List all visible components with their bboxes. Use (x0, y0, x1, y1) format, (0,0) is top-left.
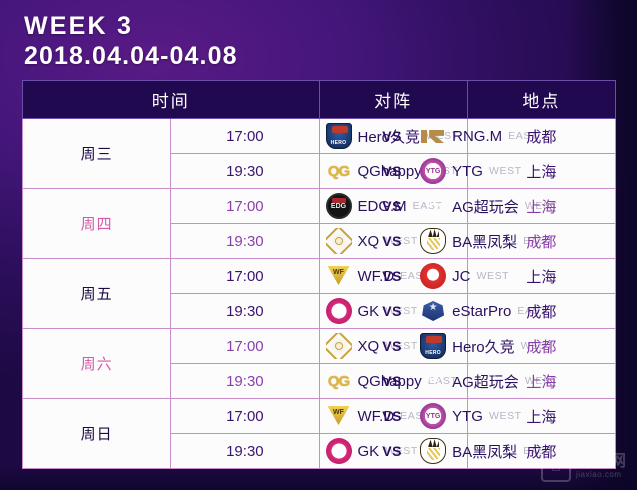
away-team[interactable]: YTGYTGWEST (412, 158, 467, 184)
column-header-venue: 地点 (467, 81, 615, 119)
home-team[interactable]: XQWEST (320, 333, 373, 359)
table-row: 周四17:00EDGEDG.MEASTVSAG超玩会WEST上海 (23, 189, 616, 224)
column-header-matchup: 对阵 (319, 81, 467, 119)
qghappy-logo: QG (326, 158, 352, 184)
ba-logo (420, 438, 446, 464)
week-title: WEEK 3 (24, 12, 238, 42)
away-team[interactable]: Hero久竞WEST (412, 333, 467, 359)
matchup: WF.DEASTVSJCWEST (320, 260, 467, 293)
home-team[interactable]: Hero久竞WEST (320, 123, 373, 149)
rng-logo (420, 123, 446, 149)
matchup: GKWESTVSeStarProEAST (320, 295, 467, 328)
match-cell: Hero久竞WESTVSRNG.MEAST (319, 119, 467, 154)
vs-label: VS (372, 338, 412, 354)
conference-label: WEST (476, 270, 514, 282)
schedule-table-wrapper: 时间 对阵 地点 周三17:00Hero久竞WESTVSRNG.MEAST成都1… (22, 80, 616, 469)
away-team[interactable]: BA黑凤梨EAST (412, 228, 467, 254)
ytg-logo: YTG (420, 403, 446, 429)
table-row: 周五17:00WF.DEASTVSJCWEST上海 (23, 259, 616, 294)
away-team[interactable]: AG超玩会WEST (412, 193, 467, 219)
team-name: RNG.M (446, 128, 508, 145)
vs-label: VS (372, 128, 412, 144)
match-cell: XQWESTVSBA黑凤梨EAST (319, 224, 467, 259)
ag-logo (420, 193, 446, 219)
match-time: 19:30 (171, 364, 319, 399)
team-name: AG超玩会 (446, 371, 525, 392)
match-time: 19:30 (171, 154, 319, 189)
poster-title-block: WEEK 3 2018.04.04-04.08 (24, 12, 238, 71)
conference-label: WEST (489, 410, 527, 422)
vs-label: VS (372, 408, 412, 424)
away-team[interactable]: RNG.MEAST (412, 123, 467, 149)
day-label-0: 周三 (23, 119, 171, 189)
match-cell: QGQGhappyEASTVSYTGYTGWEST (319, 154, 467, 189)
vs-label: VS (372, 268, 412, 284)
matchup: WF.DEASTVSYTGYTGWEST (320, 400, 467, 433)
watermark-subtitle: jiaxiao.com (576, 471, 627, 479)
team-name: JC (446, 268, 476, 285)
match-cell: WF.DEASTVSJCWEST (319, 259, 467, 294)
matchup: XQWESTVSBA黑凤梨EAST (320, 225, 467, 258)
table-header-row: 时间 对阵 地点 (23, 81, 616, 119)
schedule-table: 时间 对阵 地点 周三17:00Hero久竞WESTVSRNG.MEAST成都1… (22, 80, 616, 469)
team-name: YTG (446, 163, 489, 180)
column-header-time: 时间 (23, 81, 320, 119)
matchup: Hero久竞WESTVSRNG.MEAST (320, 120, 467, 153)
home-team[interactable]: WF.DEAST (320, 263, 373, 289)
table-header: 时间 对阵 地点 (23, 81, 616, 119)
xq-logo (326, 333, 352, 359)
away-team[interactable]: BA黑凤梨EAST (412, 438, 467, 464)
wfd-logo (326, 263, 352, 289)
home-team[interactable]: EDGEDG.MEAST (320, 193, 373, 219)
away-team[interactable]: eStarProEAST (412, 298, 467, 324)
estar-logo (420, 298, 446, 324)
matchup: EDGEDG.MEASTVSAG超玩会WEST (320, 190, 467, 223)
edg-logo: EDG (326, 193, 352, 219)
match-time: 17:00 (171, 259, 319, 294)
vs-label: VS (372, 303, 412, 319)
xq-logo (326, 228, 352, 254)
day-label-1: 周四 (23, 189, 171, 259)
table-row: 周日17:00WF.DEASTVSYTGYTGWEST上海 (23, 399, 616, 434)
home-team[interactable]: GKWEST (320, 438, 373, 464)
table-row: 周三17:00Hero久竞WESTVSRNG.MEAST成都 (23, 119, 616, 154)
wfd-logo (326, 403, 352, 429)
away-team[interactable]: YTGYTGWEST (412, 403, 467, 429)
ba-logo (420, 228, 446, 254)
matchup: XQWESTVSHero久竞WEST (320, 330, 467, 363)
away-team[interactable]: AG超玩会WEST (412, 368, 467, 394)
home-team[interactable]: QGQGhappyEAST (320, 158, 373, 184)
away-team[interactable]: JCWEST (412, 263, 467, 289)
team-name: BA黑凤梨 (446, 441, 523, 462)
match-cell: EDGEDG.MEASTVSAG超玩会WEST (319, 189, 467, 224)
matchup: GKWESTVSBA黑凤梨EAST (320, 435, 467, 468)
home-team[interactable]: WF.DEAST (320, 403, 373, 429)
match-cell: XQWESTVSHero久竞WEST (319, 329, 467, 364)
team-name: eStarPro (446, 303, 517, 320)
table-row: 周六17:00XQWESTVSHero久竞WEST成都 (23, 329, 616, 364)
home-team[interactable]: GKWEST (320, 298, 373, 324)
home-team[interactable]: XQWEST (320, 228, 373, 254)
conference-label: WEST (489, 165, 527, 177)
team-name: YTG (446, 408, 489, 425)
vs-label: VS (372, 163, 412, 179)
match-time: 19:30 (171, 294, 319, 329)
ytg-logo: YTG (420, 158, 446, 184)
day-label-3: 周六 (23, 329, 171, 399)
team-name: BA黑凤梨 (446, 231, 523, 252)
vs-label: VS (372, 198, 412, 214)
match-time: 17:00 (171, 329, 319, 364)
day-label-2: 周五 (23, 259, 171, 329)
hero-logo (326, 123, 352, 149)
date-range-title: 2018.04.04-04.08 (24, 42, 238, 72)
match-cell: GKWESTVSeStarProEAST (319, 294, 467, 329)
team-name: AG超玩会 (446, 196, 525, 217)
qghappy-logo: QG (326, 368, 352, 394)
match-time: 17:00 (171, 189, 319, 224)
home-team[interactable]: QGQGhappyEAST (320, 368, 373, 394)
matchup: QGQGhappyEASTVSAG超玩会WEST (320, 365, 467, 398)
matchup: QGQGhappyEASTVSYTGYTGWEST (320, 155, 467, 188)
gk-logo (326, 438, 352, 464)
table-body: 周三17:00Hero久竞WESTVSRNG.MEAST成都19:30QGQGh… (23, 119, 616, 469)
match-time: 17:00 (171, 119, 319, 154)
match-time: 17:00 (171, 399, 319, 434)
match-cell: QGQGhappyEASTVSAG超玩会WEST (319, 364, 467, 399)
team-name: Hero久竞 (446, 336, 521, 357)
jc-logo (420, 263, 446, 289)
match-cell: GKWESTVSBA黑凤梨EAST (319, 434, 467, 469)
match-cell: WF.DEASTVSYTGYTGWEST (319, 399, 467, 434)
vs-label: VS (372, 233, 412, 249)
match-time: 19:30 (171, 224, 319, 259)
gk-logo (326, 298, 352, 324)
schedule-poster: WEEK 3 2018.04.04-04.08 时间 对阵 地点 周三17:00… (0, 0, 637, 490)
hero-logo (420, 333, 446, 359)
vs-label: VS (372, 373, 412, 389)
ag-logo (420, 368, 446, 394)
vs-label: VS (372, 443, 412, 459)
day-label-4: 周日 (23, 399, 171, 469)
match-time: 19:30 (171, 434, 319, 469)
